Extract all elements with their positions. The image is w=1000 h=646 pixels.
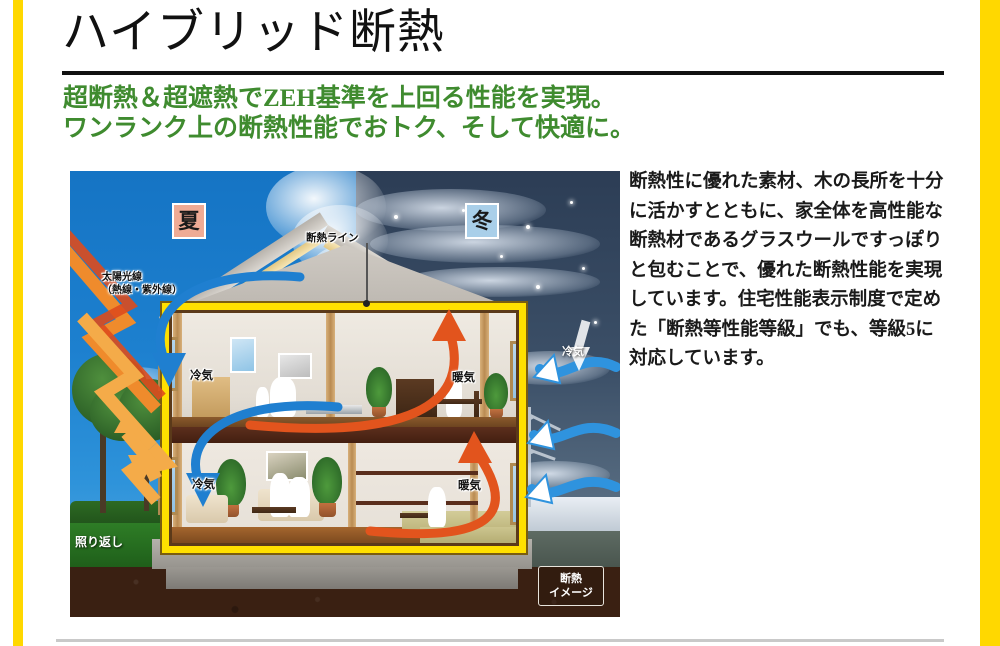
label-cool-air-upper: 冷気 <box>190 367 213 383</box>
body-paragraph: 断熱性に優れた素材、木の長所を十分に活かすとともに、家全体を高性能な断熱材である… <box>629 168 949 375</box>
label-cool-air-outside: 冷気 <box>562 343 584 359</box>
badge-summer: 夏 <box>172 203 206 239</box>
subtitle-line-1: 超断熱＆超遮熱でZEH基準を上回る性能を実現。 <box>63 84 943 114</box>
badge-winter: 冬 <box>465 203 499 239</box>
illustration-note-badge: 断熱 イメージ <box>538 566 604 606</box>
insulation-leader-line <box>366 243 368 303</box>
label-sunray-line1: 太陽光線 <box>102 271 182 284</box>
label-warm-air-upper: 暖気 <box>452 369 475 385</box>
title-divider <box>62 71 944 75</box>
insulation-leader-dot <box>363 300 370 307</box>
label-warm-air-lower: 暖気 <box>458 477 481 493</box>
note-line-1: 断熱 <box>549 572 593 586</box>
outside-cold-air-arrow-mid <box>528 421 616 449</box>
subtitle-line-2: ワンランク上の断熱性能でおトク、そして快適に。 <box>63 114 943 144</box>
label-sunray: 太陽光線 （熱線・紫外線） <box>102 271 182 297</box>
left-yellow-rail <box>13 0 23 646</box>
page-root: ハイブリッド断熱 超断熱＆超遮熱でZEH基準を上回る性能を実現。 ワンランク上の… <box>0 0 1000 646</box>
outside-cold-air-arrow-lower <box>526 475 616 503</box>
bottom-divider <box>56 639 944 642</box>
right-yellow-rail <box>980 0 1000 646</box>
page-subtitle: 超断熱＆超遮熱でZEH基準を上回る性能を実現。 ワンランク上の断熱性能でおトク、… <box>63 84 943 144</box>
page-title: ハイブリッド断熱 <box>62 2 445 64</box>
label-cool-air-lower: 冷気 <box>192 476 215 492</box>
label-reflect: 照り返し <box>75 533 123 550</box>
note-line-2: イメージ <box>549 586 593 600</box>
label-sunray-line2: （熱線・紫外線） <box>102 284 182 297</box>
insulation-illustration: 夏 冬 太陽光線 （熱線・紫外線） 断熱ライン 照り返し 冷気 冷気 冷気 暖気… <box>70 171 620 617</box>
label-insulation-line: 断熱ライン <box>306 230 359 245</box>
